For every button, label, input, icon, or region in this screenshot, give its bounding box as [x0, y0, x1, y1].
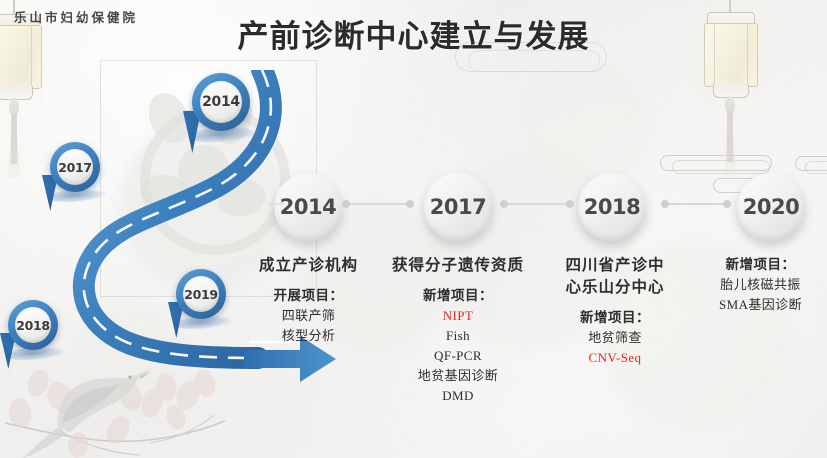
- column-item: SMA基因诊断: [694, 295, 827, 315]
- ruyi-line-2: [672, 160, 770, 174]
- column-headline: 成立产诊机构: [236, 255, 381, 277]
- column-item: 核型分析: [236, 326, 381, 346]
- hospital-name: 乐山市妇幼保健院: [14, 7, 138, 26]
- column-item-highlight: CNV-Seq: [540, 348, 690, 368]
- timeline-connectors: [0, 203, 827, 213]
- lantern-tassel-core: [727, 112, 733, 162]
- pin-year-label: 2017: [58, 160, 92, 175]
- connector-dot: [406, 200, 414, 208]
- column-subheading: 新增项目：: [694, 255, 827, 275]
- ruyi-line-5: [805, 161, 827, 174]
- pin-year-label: 2019: [184, 287, 218, 302]
- connector-2017-2018: [504, 203, 570, 205]
- timeline-column-2020: 新增项目： 胎儿核磁共振 SMA基因诊断: [694, 255, 827, 315]
- connector-2014-2017: [346, 203, 410, 205]
- connector-left-tail: [268, 203, 284, 205]
- pin-face: 2018: [15, 307, 51, 343]
- column-subheading: 开展项目：: [236, 286, 381, 306]
- connector-dot: [342, 200, 350, 208]
- column-item: 地贫基因诊断: [378, 366, 538, 386]
- pin-face: 2019: [183, 276, 219, 312]
- pin-year-label: 2018: [16, 318, 50, 333]
- column-item: QF-PCR: [378, 346, 538, 366]
- timeline-column-2017: 获得分子遗传资质 新增项目： NIPT Fish QF-PCR 地贫基因诊断 D…: [378, 255, 538, 406]
- column-item: 胎儿核磁共振: [694, 275, 827, 295]
- column-headline-line2: 心乐山分中心: [540, 277, 690, 299]
- bg-blob-5: [520, 60, 650, 190]
- pin-year-label: 2014: [202, 94, 240, 110]
- slide-canvas: 2014 2017 2018 2019 2014 2017: [0, 0, 827, 458]
- connector-dot: [661, 200, 669, 208]
- column-headline: 获得分子遗传资质: [378, 255, 538, 277]
- timeline-column-2014: 成立产诊机构 开展项目： 四联产筛 核型分析: [236, 255, 381, 346]
- connector-2018-2020: [665, 203, 727, 205]
- connector-dot: [723, 200, 731, 208]
- column-item-highlight: NIPT: [378, 306, 538, 326]
- column-item: 地贫筛查: [540, 328, 690, 348]
- connector-dot: [566, 200, 574, 208]
- pin-face: 2017: [57, 149, 93, 185]
- column-item: DMD: [378, 386, 538, 406]
- connector-dot: [500, 200, 508, 208]
- column-subheading: 新增项目：: [540, 308, 690, 328]
- timeline-column-2018: 四川省产诊中 心乐山分中心 新增项目： 地贫筛查 CNV-Seq: [540, 255, 690, 368]
- column-subheading: 新增项目：: [378, 286, 538, 306]
- column-item: 四联产筛: [236, 306, 381, 326]
- pin-face: 2014: [200, 81, 242, 123]
- column-item: Fish: [378, 326, 538, 346]
- column-headline-line1: 四川省产诊中: [540, 255, 690, 277]
